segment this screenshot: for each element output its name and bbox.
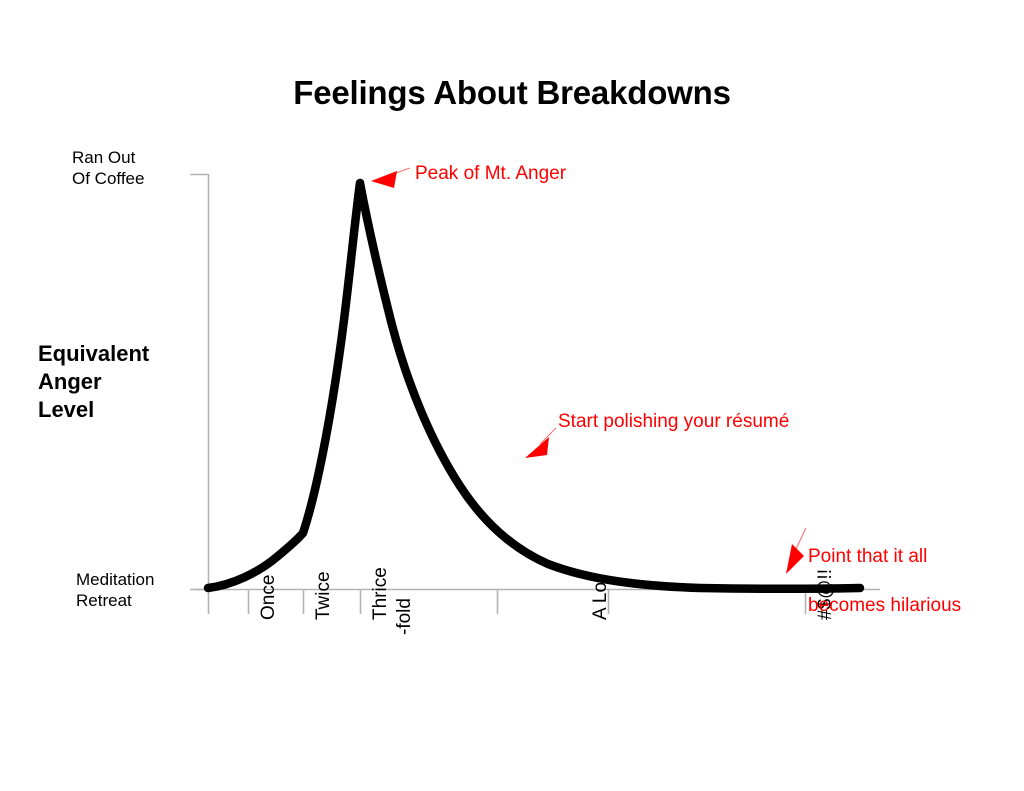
annotation-start-polishing-resume: Start polishing your résumé: [558, 410, 789, 435]
plot-area: [0, 0, 1024, 791]
x-tick-label-once: Once: [258, 575, 280, 620]
chart-page: Feelings About Breakdowns Equivalent Ang…: [0, 0, 1024, 791]
annotation-becomes-hilarious: Point that it all becomes hilarious: [808, 520, 961, 643]
peak-arrowhead-icon: [371, 171, 397, 188]
resume-arrowhead-icon: [525, 437, 549, 458]
annotation-hilarious-line-2: becomes hilarious: [808, 594, 961, 619]
x-tick-label-twice: Twice: [313, 571, 335, 620]
annotation-peak-of-mt-anger: Peak of Mt. Anger: [415, 162, 566, 187]
annotation-hilarious-line-1: Point that it all: [808, 545, 961, 570]
hilarious-arrowhead-icon: [786, 544, 804, 574]
hilarious-leader-line: [796, 528, 806, 549]
x-tick-label-thrice-fold: -fold: [394, 598, 416, 635]
x-tick-label-alot: A Lot: [590, 577, 612, 620]
x-tick-label-thrice: Thrice: [370, 567, 392, 620]
anger-level-curve: [208, 183, 860, 589]
